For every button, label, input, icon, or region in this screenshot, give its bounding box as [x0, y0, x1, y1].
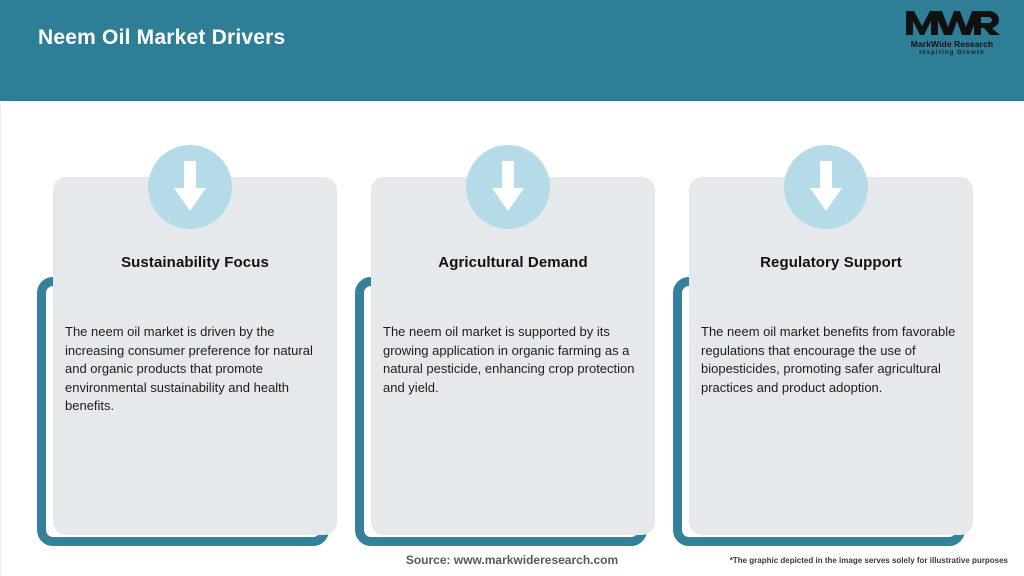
logo-tagline: Inspiring Growth — [898, 50, 1006, 56]
down-arrow-glyph — [491, 161, 525, 213]
down-arrow-icon — [466, 145, 550, 229]
down-arrow-icon — [148, 145, 232, 229]
driver-card-title: Regulatory Support — [689, 254, 973, 271]
driver-column-2: Agricultural Demand The neem oil market … — [355, 145, 671, 550]
disclaimer-note: *The graphic depicted in the image serve… — [730, 556, 1008, 565]
page-title: Neem Oil Market Drivers — [38, 26, 285, 50]
brand-logo: MarkWide Research Inspiring Growth — [898, 8, 1006, 66]
driver-card-body: The neem oil market benefits from favora… — [701, 323, 963, 397]
driver-card-title: Agricultural Demand — [371, 254, 655, 271]
driver-column-1: Sustainability Focus The neem oil market… — [37, 145, 353, 550]
driver-card[interactable]: Regulatory Support The neem oil market b… — [689, 177, 973, 535]
driver-card-body: The neem oil market is supported by its … — [383, 323, 645, 397]
down-arrow-glyph — [173, 161, 207, 213]
driver-column-3: Regulatory Support The neem oil market b… — [673, 145, 989, 550]
logo-company-name: MarkWide Research — [898, 39, 1006, 49]
driver-card-title: Sustainability Focus — [53, 254, 337, 271]
slide-canvas: Neem Oil Market Drivers MarkWide Researc… — [0, 0, 1024, 576]
down-arrow-glyph — [809, 161, 843, 213]
driver-card[interactable]: Sustainability Focus The neem oil market… — [53, 177, 337, 535]
mwr-logo-icon — [904, 8, 1000, 38]
header-bar: Neem Oil Market Drivers MarkWide Researc… — [0, 0, 1024, 101]
down-arrow-icon — [784, 145, 868, 229]
driver-card[interactable]: Agricultural Demand The neem oil market … — [371, 177, 655, 535]
driver-card-body: The neem oil market is driven by the inc… — [65, 323, 327, 416]
